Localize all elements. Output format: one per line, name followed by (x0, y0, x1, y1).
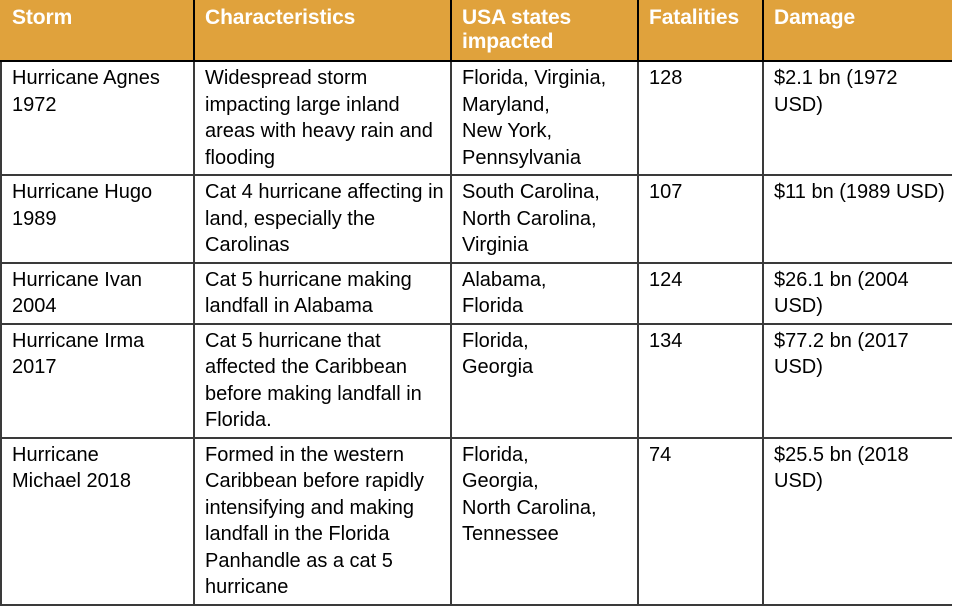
column-header-usa-states-impacted-label: USA states impacted (462, 6, 637, 54)
cell-fatalities-text: 124 (649, 267, 756, 294)
cell-damage-text: $25.5 bn (2018 USD) (774, 442, 946, 495)
cell-states-text: Florida, Georgia, North Carolina, Tennes… (462, 442, 631, 548)
cell-characteristics-text: Cat 5 hurricane that affected the Caribb… (205, 328, 444, 434)
cell-states: Florida, Virginia, Maryland, New York, P… (451, 61, 638, 175)
table-row: Hurricane Michael 2018 Formed in the wes… (1, 438, 952, 605)
storm-table-container: Storm Characteristics USA states impacte… (0, 0, 951, 606)
cell-damage-text: $11 bn (1989 USD) (774, 179, 946, 206)
column-header-storm-label: Storm (12, 6, 193, 30)
cell-characteristics-text: Cat 5 hurricane making landfall in Alaba… (205, 267, 444, 320)
column-header-characteristics-label: Characteristics (205, 6, 450, 30)
column-header-fatalities-label: Fatalities (649, 6, 762, 30)
cell-storm-text: Hurricane Michael 2018 (12, 442, 187, 495)
cell-storm-text: Hurricane Irma 2017 (12, 328, 187, 381)
cell-states: Alabama, Florida (451, 263, 638, 324)
cell-states-text: Florida, Georgia (462, 328, 631, 381)
cell-characteristics-text: Formed in the western Caribbean before r… (205, 442, 444, 601)
cell-storm: Hurricane Irma 2017 (1, 324, 194, 438)
cell-characteristics: Cat 5 hurricane that affected the Caribb… (194, 324, 451, 438)
cell-damage-text: $77.2 bn (2017 USD) (774, 328, 946, 381)
cell-storm-text: Hurricane Hugo 1989 (12, 179, 187, 232)
cell-damage: $11 bn (1989 USD) (763, 175, 952, 263)
cell-characteristics: Cat 4 hurricane affecting in land, espec… (194, 175, 451, 263)
cell-states: Florida, Georgia, North Carolina, Tennes… (451, 438, 638, 605)
cell-damage: $25.5 bn (2018 USD) (763, 438, 952, 605)
cell-storm: Hurricane Agnes 1972 (1, 61, 194, 175)
cell-fatalities-text: 134 (649, 328, 756, 355)
cell-characteristics: Cat 5 hurricane making landfall in Alaba… (194, 263, 451, 324)
cell-fatalities: 134 (638, 324, 763, 438)
cell-damage: $77.2 bn (2017 USD) (763, 324, 952, 438)
cell-characteristics: Widespread storm impacting large inland … (194, 61, 451, 175)
cell-characteristics-text: Widespread storm impacting large inland … (205, 65, 444, 171)
column-header-damage: Damage (763, 0, 952, 61)
column-header-fatalities: Fatalities (638, 0, 763, 61)
cell-fatalities: 128 (638, 61, 763, 175)
cell-damage: $2.1 bn (1972 USD) (763, 61, 952, 175)
cell-states-text: Alabama, Florida (462, 267, 631, 320)
table-row: Hurricane Ivan 2004 Cat 5 hurricane maki… (1, 263, 952, 324)
column-header-damage-label: Damage (774, 6, 952, 30)
cell-fatalities: 74 (638, 438, 763, 605)
cell-characteristics: Formed in the western Caribbean before r… (194, 438, 451, 605)
storm-comparison-table: Storm Characteristics USA states impacte… (0, 0, 952, 606)
cell-fatalities-text: 128 (649, 65, 756, 92)
cell-damage-text: $26.1 bn (2004 USD) (774, 267, 946, 320)
cell-fatalities: 124 (638, 263, 763, 324)
cell-characteristics-text: Cat 4 hurricane affecting in land, espec… (205, 179, 444, 259)
cell-storm-text: Hurricane Agnes 1972 (12, 65, 187, 118)
table-row: Hurricane Irma 2017 Cat 5 hurricane that… (1, 324, 952, 438)
cell-fatalities: 107 (638, 175, 763, 263)
table-header: Storm Characteristics USA states impacte… (1, 0, 952, 61)
column-header-characteristics: Characteristics (194, 0, 451, 61)
column-header-storm: Storm (1, 0, 194, 61)
cell-states-text: South Carolina, North Carolina, Virginia (462, 179, 631, 259)
cell-states-text: Florida, Virginia, Maryland, New York, P… (462, 65, 631, 171)
column-header-usa-states-impacted: USA states impacted (451, 0, 638, 61)
cell-fatalities-text: 107 (649, 179, 756, 206)
cell-storm-text: Hurricane Ivan 2004 (12, 267, 187, 320)
table-row: Hurricane Agnes 1972 Widespread storm im… (1, 61, 952, 175)
cell-fatalities-text: 74 (649, 442, 756, 469)
cell-states: Florida, Georgia (451, 324, 638, 438)
cell-damage: $26.1 bn (2004 USD) (763, 263, 952, 324)
cell-damage-text: $2.1 bn (1972 USD) (774, 65, 946, 118)
table-body: Hurricane Agnes 1972 Widespread storm im… (1, 61, 952, 605)
table-row: Hurricane Hugo 1989 Cat 4 hurricane affe… (1, 175, 952, 263)
cell-storm: Hurricane Ivan 2004 (1, 263, 194, 324)
cell-storm: Hurricane Hugo 1989 (1, 175, 194, 263)
table-header-row: Storm Characteristics USA states impacte… (1, 0, 952, 61)
cell-states: South Carolina, North Carolina, Virginia (451, 175, 638, 263)
cell-storm: Hurricane Michael 2018 (1, 438, 194, 605)
